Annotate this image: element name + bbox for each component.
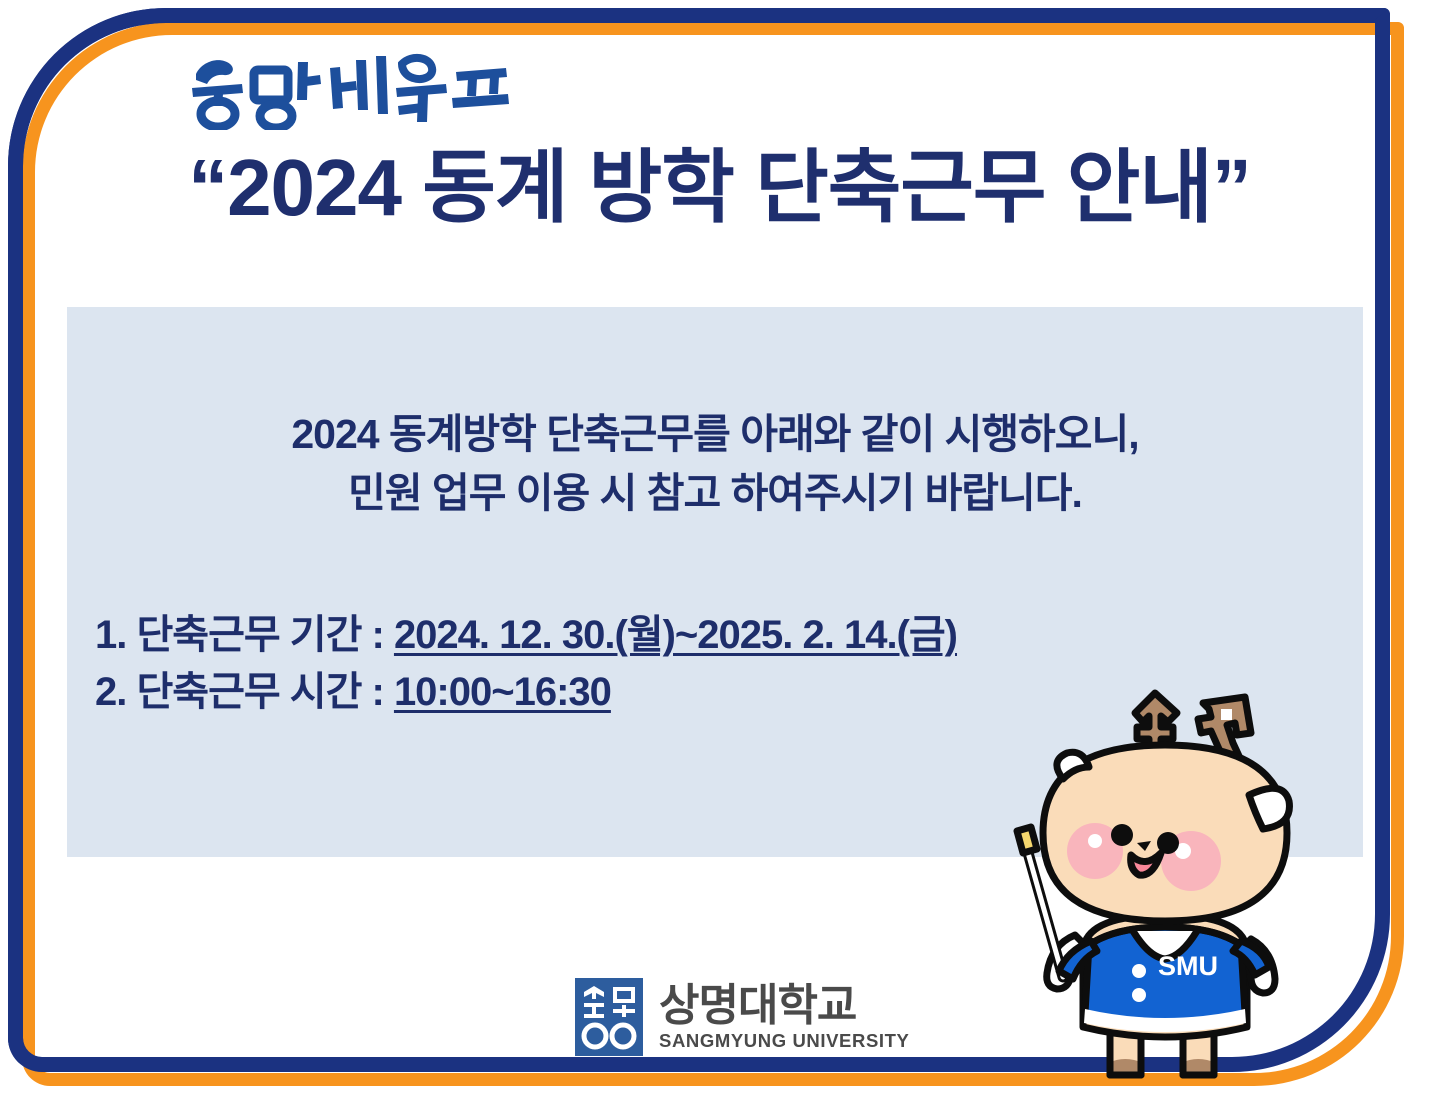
smu-deer-mascot-illustration: SMU xyxy=(1005,683,1335,1093)
poster-canvas: “2024 동계 방학 단축근무 안내” 2024 동계방학 단축근무를 아래와… xyxy=(0,0,1439,1111)
mascot-pointer-tip xyxy=(1017,827,1037,853)
detail-value-period: 2024. 12. 30.(월)~2025. 2. 14.(금) xyxy=(394,613,957,657)
page-title: “2024 동계 방학 단축근무 안내” xyxy=(0,148,1439,228)
mascot-jersey-label: SMU xyxy=(1158,951,1218,981)
mascot-eye-left xyxy=(1111,824,1133,846)
lead-line-2: 민원 업무 이용 시 참고 하여주시기 바랍니다. xyxy=(67,464,1363,523)
detail-value-hours: 10:00~16:30 xyxy=(394,670,611,714)
footer-university-logo: 상명대학교 SANGMYUNG UNIVERSITY xyxy=(575,978,909,1056)
footer-name-korean: 상명대학교 xyxy=(659,983,909,1029)
detail-label-period: 1. 단축근무 기간 : xyxy=(95,613,394,657)
footer-name-english: SANGMYUNG UNIVERSITY xyxy=(659,1031,909,1051)
list-item: 1. 단축근무 기간 : 2024. 12. 30.(월)~2025. 2. 1… xyxy=(89,607,1359,664)
panel-lead-text: 2024 동계방학 단축근무를 아래와 같이 시행하오니, 민원 업무 이용 시… xyxy=(67,405,1363,524)
lead-line-1: 2024 동계방학 단축근무를 아래와 같이 시행하오니, xyxy=(67,405,1363,464)
mascot-jersey-button xyxy=(1132,964,1146,978)
mascot-jersey-button xyxy=(1132,988,1146,1002)
sangmyung-emblem-icon xyxy=(575,978,643,1056)
footer-wordmark: 상명대학교 SANGMYUNG UNIVERSITY xyxy=(659,983,909,1051)
sangmyung-script-logo xyxy=(180,48,510,130)
detail-label-hours: 2. 단축근무 시간 : xyxy=(95,670,394,714)
